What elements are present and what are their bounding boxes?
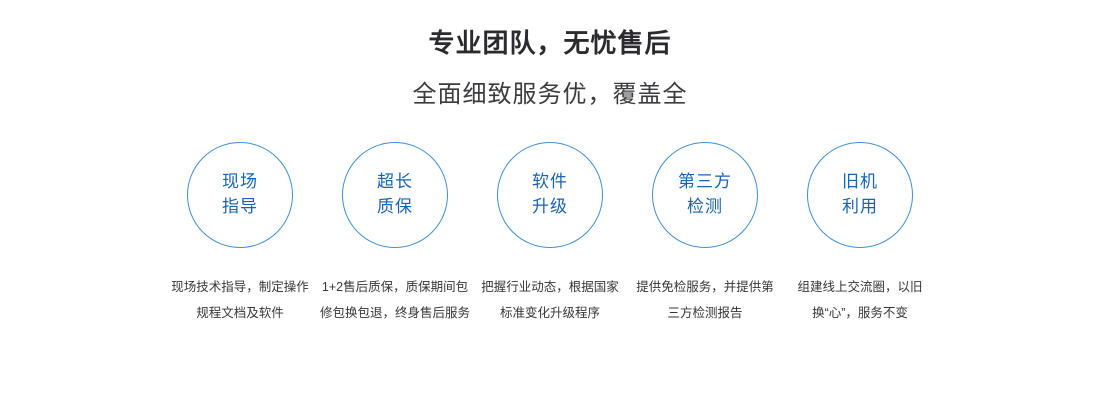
circle-label-line1: 现场 <box>222 170 258 195</box>
service-caption: 把握行业动态，根据国家 标准变化升级程序 <box>475 274 625 327</box>
service-card-list: 现场 指导 现场技术指导，制定操作 规程文档及软件 超长 质保 1+2售后质保，… <box>0 142 1100 327</box>
caption-line2: 三方检测报告 <box>630 300 780 326</box>
circle-label-line2: 检测 <box>687 195 723 220</box>
service-circle-old-machine-reuse: 旧机 利用 <box>807 142 913 248</box>
service-caption: 组建线上交流圈，以旧 换“心”，服务不变 <box>785 274 935 327</box>
circle-label-line1: 旧机 <box>842 170 878 195</box>
caption-line2: 规程文档及软件 <box>165 300 315 326</box>
caption-line1: 现场技术指导，制定操作 <box>165 274 315 300</box>
service-card: 现场 指导 现场技术指导，制定操作 规程文档及软件 <box>163 142 318 327</box>
caption-line2: 换“心”，服务不变 <box>785 300 935 326</box>
page-title: 专业团队，无忧售后 <box>0 28 1100 59</box>
service-circle-software-upgrade: 软件 升级 <box>497 142 603 248</box>
service-card: 超长 质保 1+2售后质保，质保期间包 修包换包退，终身售后服务 <box>318 142 473 327</box>
caption-line1: 组建线上交流圈，以旧 <box>785 274 935 300</box>
circle-label-line1: 软件 <box>532 170 568 195</box>
circle-label-line1: 第三方 <box>678 170 732 195</box>
page-subtitle: 全面细致服务优，覆盖全 <box>0 81 1100 110</box>
service-card: 软件 升级 把握行业动态，根据国家 标准变化升级程序 <box>473 142 628 327</box>
circle-label-line2: 利用 <box>842 195 878 220</box>
circle-label-line2: 指导 <box>222 195 258 220</box>
service-card: 旧机 利用 组建线上交流圈，以旧 换“心”，服务不变 <box>783 142 938 327</box>
circle-label-line2: 质保 <box>377 195 413 220</box>
service-circle-third-party-testing: 第三方 检测 <box>652 142 758 248</box>
service-card: 第三方 检测 提供免检服务，并提供第 三方检测报告 <box>628 142 783 327</box>
section-header: 专业团队，无忧售后 全面细致服务优，覆盖全 <box>0 0 1100 110</box>
caption-line2: 修包换包退，终身售后服务 <box>320 300 470 326</box>
circle-label-line1: 超长 <box>377 170 413 195</box>
circle-label-line2: 升级 <box>532 195 568 220</box>
service-caption: 1+2售后质保，质保期间包 修包换包退，终身售后服务 <box>320 274 470 327</box>
service-promise-section: 专业团队，无忧售后 全面细致服务优，覆盖全 现场 指导 现场技术指导，制定操作 … <box>0 0 1100 404</box>
service-caption: 提供免检服务，并提供第 三方检测报告 <box>630 274 780 327</box>
service-caption: 现场技术指导，制定操作 规程文档及软件 <box>165 274 315 327</box>
service-circle-onsite-guidance: 现场 指导 <box>187 142 293 248</box>
caption-line2: 标准变化升级程序 <box>475 300 625 326</box>
caption-line1: 把握行业动态，根据国家 <box>475 274 625 300</box>
caption-line1: 提供免检服务，并提供第 <box>630 274 780 300</box>
service-circle-extended-warranty: 超长 质保 <box>342 142 448 248</box>
caption-line1: 1+2售后质保，质保期间包 <box>320 274 470 300</box>
